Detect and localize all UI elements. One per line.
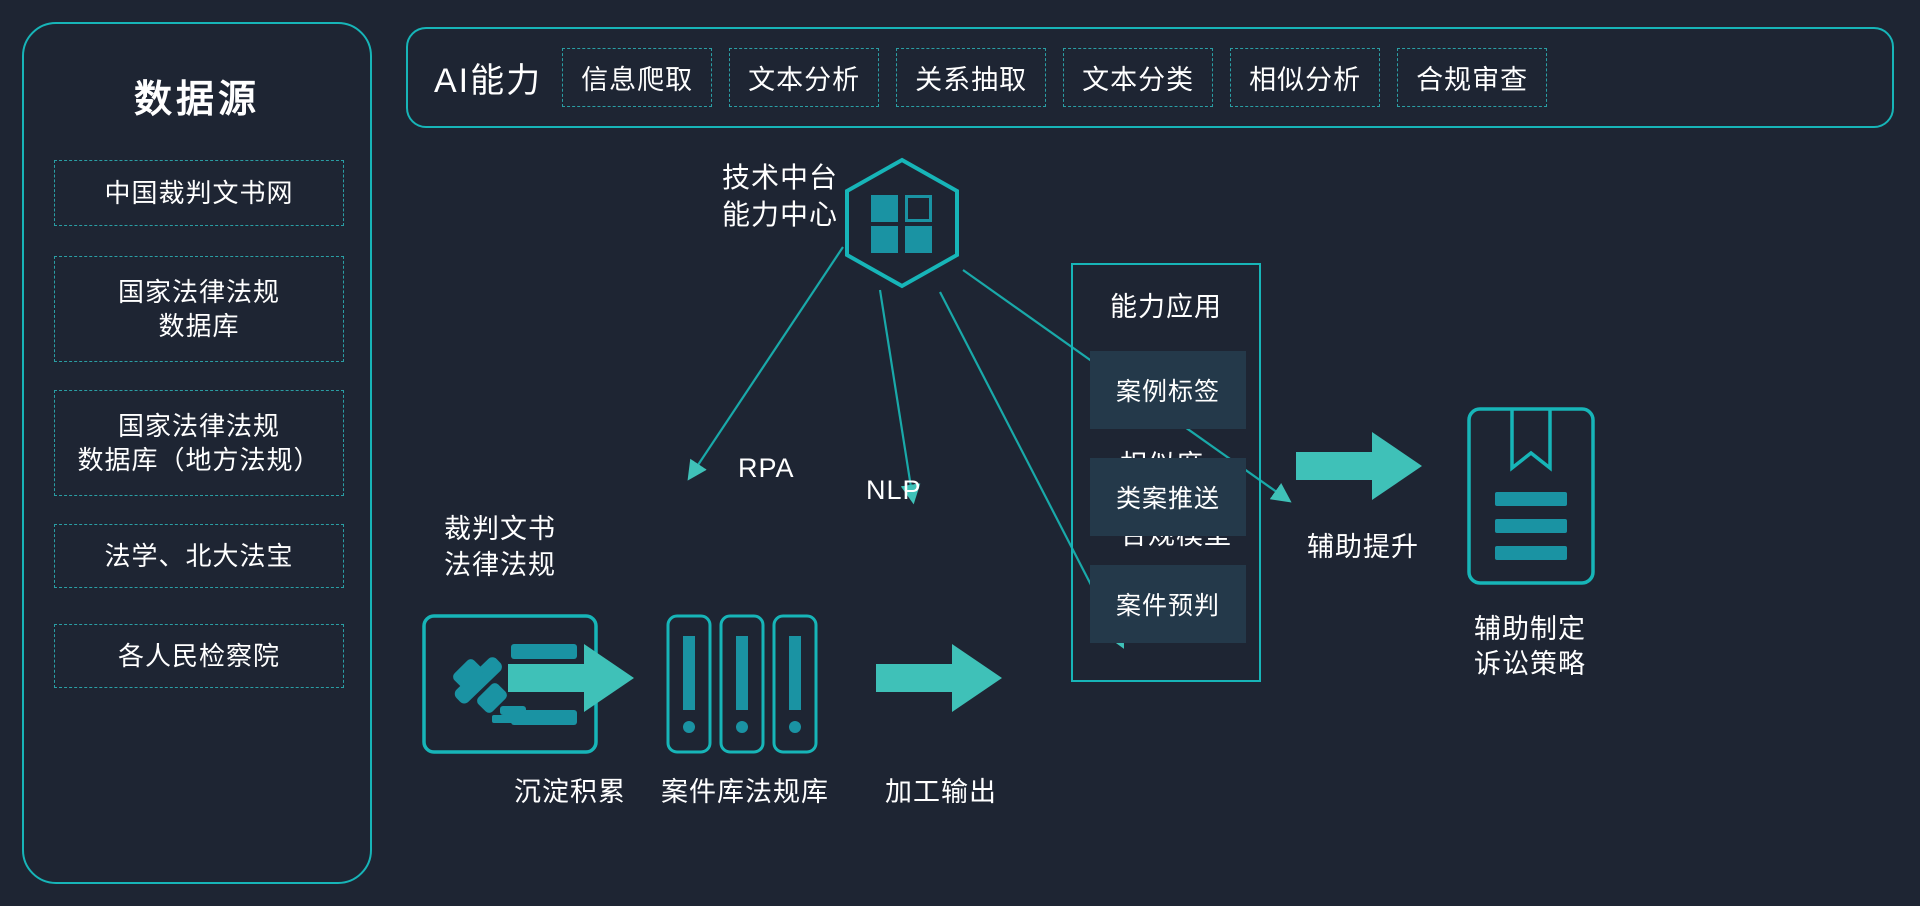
ai-chip-xiangsifenxi[interactable]: 相似分析 <box>1230 48 1380 107</box>
data-source-item-label: 各人民检察院 <box>118 639 280 673</box>
right-arrow-icon-assist <box>1296 430 1422 502</box>
capability-item-case-label[interactable]: 案例标签 <box>1090 351 1246 429</box>
server-racks-icon <box>666 614 818 754</box>
stage1-top-label: 裁判文书 法律法规 <box>400 512 600 583</box>
ai-chip-wenbenfenxi[interactable]: 文本分析 <box>729 48 879 107</box>
ai-chip-xinxipaqu[interactable]: 信息爬取 <box>562 48 712 107</box>
ai-chip-wenbenfenlei[interactable]: 文本分类 <box>1063 48 1213 107</box>
right-arrow-icon-process <box>876 642 1002 714</box>
data-source-item-4[interactable]: 各人民检察院 <box>54 624 344 688</box>
capability-application-panel: 能力应用 案例标签 类案推送 案件预判 <box>1071 263 1261 682</box>
bookmark-document-icon <box>1466 406 1596 586</box>
data-source-title: 数据源 <box>24 68 370 123</box>
connector-rpa <box>690 247 843 477</box>
arrow3-caption: 辅助提升 <box>1288 530 1438 565</box>
arrow1-caption: 沉淀积累 <box>490 775 650 810</box>
data-source-item-3[interactable]: 法学、北大法宝 <box>54 524 344 588</box>
data-source-item-label: 国家法律法规 数据库 <box>118 275 280 344</box>
hexagon-four-squares-icon <box>843 157 961 289</box>
connector-nlp <box>880 290 913 500</box>
data-source-item-label: 国家法律法规 数据库（地方法规） <box>77 409 320 478</box>
data-source-item-0[interactable]: 中国裁判文书网 <box>54 160 344 226</box>
capability-item-similar-case-push[interactable]: 类案推送 <box>1090 458 1246 536</box>
data-source-item-label: 法学、北大法宝 <box>104 539 293 573</box>
capability-item-case-prediction[interactable]: 案件预判 <box>1090 565 1246 643</box>
data-source-item-1[interactable]: 国家法律法规 数据库 <box>54 256 344 362</box>
right-arrow-icon-accumulate <box>508 642 634 714</box>
data-source-item-2[interactable]: 国家法律法规 数据库（地方法规） <box>54 390 344 496</box>
connector-label-rpa: RPA <box>738 451 795 486</box>
ai-chip-hegueishencha[interactable]: 合规审查 <box>1397 48 1547 107</box>
connector-label-nlp: NLP <box>866 473 922 508</box>
data-source-item-label: 中国裁判文书网 <box>104 176 293 210</box>
stage2-caption: 案件库法规库 <box>650 775 840 810</box>
ai-capability-title: AI能力 <box>434 53 542 102</box>
stage4-caption: 辅助制定 诉讼策略 <box>1430 612 1630 682</box>
diagram-canvas: 数据源 中国裁判文书网 国家法律法规 数据库 国家法律法规 数据库（地方法规） … <box>0 0 1920 906</box>
arrow2-caption: 加工输出 <box>866 775 1016 810</box>
capability-panel-title: 能力应用 <box>1073 285 1259 324</box>
data-source-panel: 数据源 中国裁判文书网 国家法律法规 数据库 国家法律法规 数据库（地方法规） … <box>22 22 372 884</box>
ai-chip-guanxichouqu[interactable]: 关系抽取 <box>896 48 1046 107</box>
ai-capability-bar: AI能力 信息爬取 文本分析 关系抽取 文本分类 相似分析 合规审查 <box>406 27 1894 128</box>
